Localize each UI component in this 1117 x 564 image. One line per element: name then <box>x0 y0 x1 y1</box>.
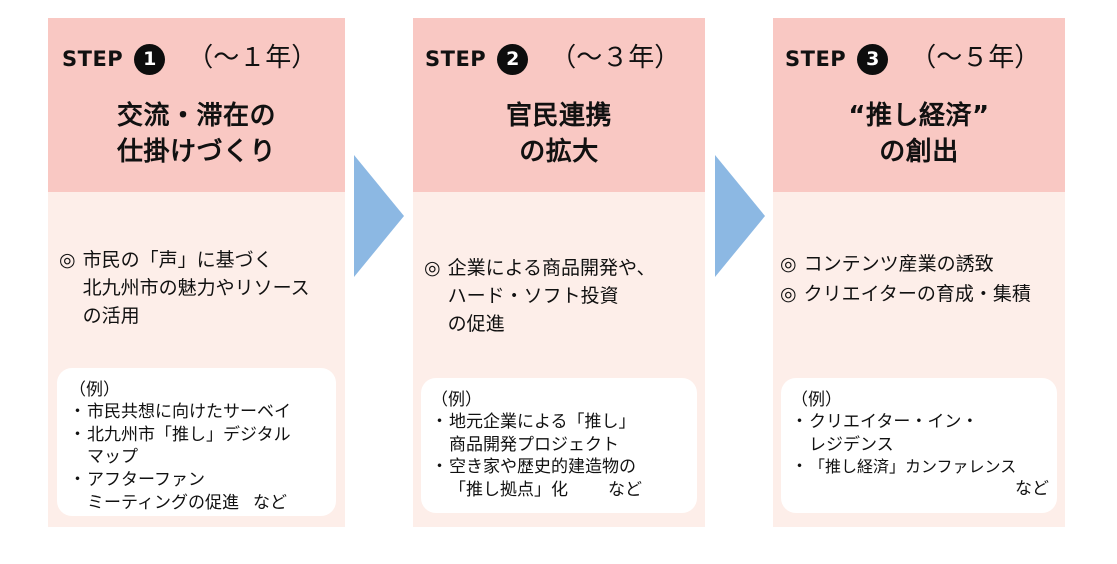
step-2-example-item-2: ・ 空き家や歴史的建造物の 「推し拠点」化など <box>431 456 687 501</box>
bullet-mark-icon: ◎ <box>780 250 797 278</box>
step-2-title-line-1: 官民連携 <box>413 99 705 135</box>
step-panel-1: STEP 1 （〜１年） 交流・滞在の 仕掛けづくり ◎ 市民の「声」に基づく … <box>48 18 345 527</box>
step-3-example-item-2-line-1: 「推し経済」カンファレンス <box>809 456 1049 477</box>
step-2-bullet-1-line-1: 企業による商品開発や、 <box>448 254 699 282</box>
step-1-example-item-2: ・ 北九州市「推し」デジタル マップ <box>69 424 326 469</box>
step-1-example-item-2-text: 北九州市「推し」デジタル マップ <box>87 424 326 469</box>
step-3-number-badge: 3 <box>857 44 888 75</box>
bullet-mark-icon: ◎ <box>780 280 797 308</box>
step-1-example-item-1-line-1: 市民共想に向けたサーベイ <box>87 401 326 424</box>
step-1-step-word: STEP <box>62 49 123 70</box>
step-1-example-item-2-line-1: 北九州市「推し」デジタル <box>87 424 326 447</box>
step-1-example-card: （例） ・ 市民共想に向けたサーベイ ・ 北九州市「推し」デジタル マップ ・ <box>57 368 336 516</box>
arrow-step2-to-step3 <box>713 155 765 277</box>
step-2-example-item-2-line-2: 「推し拠点」化など <box>449 479 687 502</box>
step-2-example-item-1-line-2: 商品開発プロジェクト <box>449 434 687 457</box>
step-1-example-item-3-line-1: アフターファン <box>87 469 326 492</box>
step-3-example-item-1-text: クリエイター・イン・ レジデンス <box>809 411 1049 456</box>
step-3-example-item-2: ・ 「推し経済」カンファレンス など <box>791 456 1049 500</box>
step-2-bullet-1-text: 企業による商品開発や、 ハード・ソフト投資 の促進 <box>448 254 699 338</box>
list-bullet-icon: ・ <box>791 411 808 434</box>
step-1-example-suffix: など <box>253 493 287 513</box>
bullet-mark-icon: ◎ <box>59 246 76 274</box>
step-1-bullet-1-line-3: の活用 <box>83 302 339 330</box>
step-1-number-badge: 1 <box>134 44 165 75</box>
step-1-bullet-1-line-1: 市民の「声」に基づく <box>83 246 339 274</box>
step-3-example-item-1-line-2: レジデンス <box>809 434 1049 457</box>
step-3-bullet-1-text: コンテンツ産業の誘致 <box>804 250 1061 278</box>
step-2-timeframe: （〜３年） <box>550 45 680 71</box>
step-3-example-suffix: など <box>809 478 1049 501</box>
step-2-example-label: （例） <box>431 389 687 411</box>
arrow-triangle-icon <box>713 155 765 277</box>
step-2-example-item-2-text: 空き家や歴史的建造物の 「推し拠点」化など <box>449 456 687 501</box>
step-3-meta-row: STEP 3 （〜５年） <box>773 44 1065 75</box>
step-3-bullet-list: ◎ コンテンツ産業の誘致 ◎ クリエイターの育成・集積 <box>773 250 1065 310</box>
step-3-step-word: STEP <box>785 49 846 70</box>
step-2-example-item-2-line-1: 空き家や歴史的建造物の <box>449 456 687 479</box>
step-1-example-item-1-text: 市民共想に向けたサーベイ <box>87 401 326 424</box>
bullet-mark-icon: ◎ <box>424 254 441 282</box>
step-panel-3-body: ◎ コンテンツ産業の誘致 ◎ クリエイターの育成・集積 （例） ・ <box>773 192 1065 527</box>
step-3-example-item-1: ・ クリエイター・イン・ レジデンス <box>791 411 1049 456</box>
diagram-canvas: STEP 1 （〜１年） 交流・滞在の 仕掛けづくり ◎ 市民の「声」に基づく … <box>0 0 1117 564</box>
list-bullet-icon: ・ <box>69 401 86 424</box>
step-2-number-badge: 2 <box>497 44 528 75</box>
list-bullet-icon: ・ <box>69 469 86 492</box>
step-2-example-item-1-text: 地元企業による「推し」 商品開発プロジェクト <box>449 411 687 456</box>
step-3-bullet-2-text: クリエイターの育成・集積 <box>804 280 1061 308</box>
step-3-example-card: （例） ・ クリエイター・イン・ レジデンス ・ 「推し経済」カンファレンス な… <box>781 378 1057 513</box>
list-bullet-icon: ・ <box>791 456 808 479</box>
step-panel-3-header: STEP 3 （〜５年） “推し経済” の創出 <box>773 18 1065 192</box>
step-2-title-line-2: の拡大 <box>413 135 705 171</box>
step-1-example-label: （例） <box>69 379 326 401</box>
step-2-step-word: STEP <box>425 49 486 70</box>
step-1-bullet-list: ◎ 市民の「声」に基づく 北九州市の魅力やリソース の活用 <box>48 246 345 332</box>
step-2-example-suffix: など <box>608 480 642 500</box>
step-3-bullet-2: ◎ クリエイターの育成・集積 <box>780 280 1061 308</box>
list-bullet-icon: ・ <box>69 424 86 447</box>
step-1-example-item-3: ・ アフターファン ミーティングの促進など <box>69 469 326 514</box>
step-3-example-label: （例） <box>791 389 1049 411</box>
step-3-bullet-1-line-1: コンテンツ産業の誘致 <box>804 250 1061 278</box>
step-1-timeframe: （〜１年） <box>187 45 317 71</box>
step-2-meta-row: STEP 2 （〜３年） <box>413 44 705 75</box>
step-3-bullet-1: ◎ コンテンツ産業の誘致 <box>780 250 1061 278</box>
list-bullet-icon: ・ <box>431 411 448 434</box>
step-panel-2: STEP 2 （〜３年） 官民連携 の拡大 ◎ 企業による商品開発や、 ハード・… <box>413 18 705 527</box>
step-1-bullet-1: ◎ 市民の「声」に基づく 北九州市の魅力やリソース の活用 <box>59 246 339 330</box>
step-1-example-item-2-line-2: マップ <box>87 446 326 469</box>
step-2-title: 官民連携 の拡大 <box>413 99 705 171</box>
step-1-meta-row: STEP 1 （〜１年） <box>48 44 345 75</box>
step-3-example-item-1-line-1: クリエイター・イン・ <box>809 411 1049 434</box>
step-2-bullet-1-line-3: の促進 <box>448 310 699 338</box>
step-1-title: 交流・滞在の 仕掛けづくり <box>48 99 345 171</box>
step-1-title-line-1: 交流・滞在の <box>48 99 345 135</box>
step-panel-1-body: ◎ 市民の「声」に基づく 北九州市の魅力やリソース の活用 （例） ・ 市民共想… <box>48 192 345 527</box>
step-2-bullet-1-line-2: ハード・ソフト投資 <box>448 282 699 310</box>
step-1-bullet-1-line-2: 北九州市の魅力やリソース <box>83 274 339 302</box>
step-1-example-item-1: ・ 市民共想に向けたサーベイ <box>69 401 326 424</box>
step-1-example-item-3-text: アフターファン ミーティングの促進など <box>87 469 326 514</box>
step-3-example-item-2-text: 「推し経済」カンファレンス など <box>809 456 1049 500</box>
step-2-example-item-1-line-1: 地元企業による「推し」 <box>449 411 687 434</box>
step-1-bullet-1-text: 市民の「声」に基づく 北九州市の魅力やリソース の活用 <box>83 246 339 330</box>
step-3-title-line-2: の創出 <box>773 135 1065 171</box>
step-2-bullet-1: ◎ 企業による商品開発や、 ハード・ソフト投資 の促進 <box>424 254 699 338</box>
step-panel-1-header: STEP 1 （〜１年） 交流・滞在の 仕掛けづくり <box>48 18 345 192</box>
arrow-step1-to-step2 <box>352 155 404 277</box>
step-3-timeframe: （〜５年） <box>910 45 1040 71</box>
step-3-bullet-2-line-1: クリエイターの育成・集積 <box>804 280 1061 308</box>
step-1-example-item-3-line-2: ミーティングの促進など <box>87 492 326 515</box>
step-panel-2-header: STEP 2 （〜３年） 官民連携 の拡大 <box>413 18 705 192</box>
arrow-triangle-icon <box>352 155 404 277</box>
step-panel-2-body: ◎ 企業による商品開発や、 ハード・ソフト投資 の促進 （例） ・ 地元企業によ… <box>413 192 705 527</box>
step-2-bullet-list: ◎ 企業による商品開発や、 ハード・ソフト投資 の促進 <box>413 254 705 340</box>
step-3-title: “推し経済” の創出 <box>773 99 1065 171</box>
step-2-example-item-1: ・ 地元企業による「推し」 商品開発プロジェクト <box>431 411 687 456</box>
step-2-example-card: （例） ・ 地元企業による「推し」 商品開発プロジェクト ・ 空き家や歴史的建造… <box>421 378 697 513</box>
step-3-title-line-1: “推し経済” <box>773 99 1065 135</box>
list-bullet-icon: ・ <box>431 456 448 479</box>
step-panel-3: STEP 3 （〜５年） “推し経済” の創出 ◎ コンテンツ産業の誘致 ◎ <box>773 18 1065 527</box>
step-1-title-line-2: 仕掛けづくり <box>48 135 345 171</box>
